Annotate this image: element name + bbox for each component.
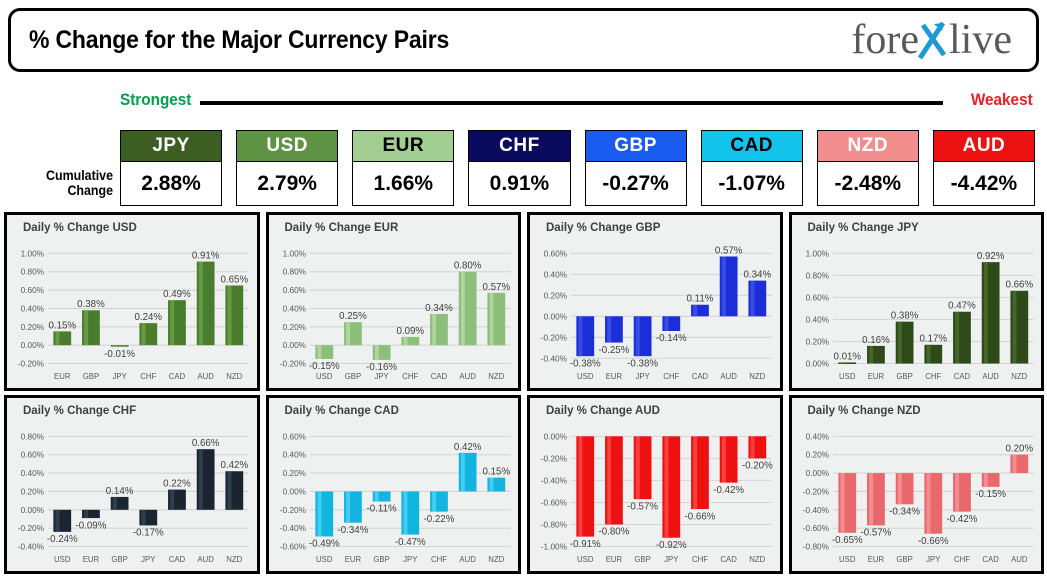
bar-value-label: -0.20% — [742, 460, 773, 471]
bar-value-label: -0.57% — [860, 527, 891, 538]
x-axis-tick: CHF — [692, 555, 708, 564]
strength-scale-line — [200, 101, 943, 105]
y-axis-tick: -1.00% — [541, 541, 568, 551]
bar-value-label: 0.17% — [919, 334, 947, 345]
cumulative-value-usd: 2.79% — [236, 162, 338, 206]
bar-chf — [139, 323, 157, 345]
x-axis-tick: EUR — [867, 372, 884, 381]
y-axis-tick: 0.20% — [805, 450, 829, 460]
bar-value-label: -0.11% — [366, 504, 396, 515]
x-axis-tick: USD — [839, 372, 856, 381]
cumulative-cell-jpy: JPY2.88% — [120, 130, 222, 206]
y-axis-tick: 0.20% — [21, 486, 45, 496]
x-axis-tick: USD — [577, 372, 594, 381]
bar-nzd — [487, 478, 505, 492]
x-axis-tick: CAD — [430, 372, 447, 381]
cumulative-change-row: JPY2.88%USD2.79%EUR1.66%CHF0.91%GBP-0.27… — [120, 130, 1035, 206]
bar-aud — [458, 272, 476, 345]
y-axis-tick: -0.40% — [279, 523, 306, 533]
bar-value-label: 0.14% — [106, 486, 134, 497]
bar-value-label: -0.66% — [917, 536, 948, 547]
cumulative-value-jpy: 2.88% — [120, 162, 222, 206]
bar-value-label: -0.09% — [76, 520, 107, 531]
x-axis-tick: CHF — [925, 372, 941, 381]
bar-value-label: 0.66% — [1005, 280, 1033, 291]
y-axis-tick: -0.40% — [802, 505, 829, 515]
y-axis-tick: 1.00% — [21, 248, 45, 258]
bar-value-label: -0.15% — [308, 361, 339, 372]
x-axis-tick: JPY — [926, 555, 941, 564]
bar-value-label: -0.22% — [423, 514, 454, 525]
bar-gbp — [344, 322, 362, 345]
cumulative-cell-eur: EUR1.66% — [352, 130, 454, 206]
x-axis-tick: EUR — [54, 372, 71, 381]
x-axis-tick: NZD — [749, 555, 765, 564]
x-axis-tick: CAD — [720, 555, 737, 564]
x-axis-tick: CAD — [953, 372, 970, 381]
bar-value-label: 0.16% — [862, 335, 890, 346]
bar-usd — [315, 345, 333, 359]
y-axis-tick: 0.40% — [282, 303, 306, 313]
currency-header-chf: CHF — [468, 130, 570, 162]
bar-value-label: -0.91% — [570, 539, 601, 550]
bar-value-label: 0.24% — [134, 312, 162, 323]
x-axis-tick: CHF — [402, 372, 418, 381]
y-axis-tick: 0.80% — [282, 267, 306, 277]
bar-value-label: -0.24% — [47, 534, 78, 545]
y-axis-tick: 0.80% — [21, 267, 45, 277]
currency-header-jpy: JPY — [120, 130, 222, 162]
bar-jpy — [924, 473, 942, 534]
y-axis-tick: -0.40% — [541, 475, 568, 485]
bar-value-label: -0.42% — [713, 485, 744, 496]
y-axis-tick: 0.40% — [544, 269, 568, 279]
cumulative-cell-chf: CHF0.91% — [468, 130, 570, 206]
x-axis-tick: AUD — [720, 372, 737, 381]
y-axis-tick: -0.60% — [279, 541, 306, 551]
x-axis-tick: GBP — [344, 372, 360, 381]
chart-plot-area: 0.60%0.40%0.20%0.00%-0.20%-0.40%-0.60%-0… — [269, 420, 517, 569]
y-axis-tick: -0.60% — [802, 523, 829, 533]
bar-eur — [82, 510, 100, 518]
bar-value-label: 0.09% — [396, 326, 424, 337]
cumulative-change-label: Cumulative Change — [16, 168, 113, 198]
bar-nzd — [487, 293, 505, 345]
bar-value-label: -0.01% — [104, 349, 135, 360]
bar-eur — [605, 436, 623, 524]
bar-value-label: 0.15% — [482, 466, 510, 477]
x-axis-tick: USD — [316, 372, 333, 381]
bar-nzd — [225, 471, 243, 510]
y-axis-tick: 0.60% — [282, 431, 306, 441]
x-axis-tick: EUR — [83, 555, 100, 564]
bar-value-label: 0.34% — [744, 269, 772, 280]
chart-plot-area: 0.40%0.20%0.00%-0.20%-0.40%-0.60%-0.80%-… — [792, 420, 1040, 569]
x-axis-tick: CHF — [430, 555, 446, 564]
bar-value-label: -0.25% — [599, 345, 630, 356]
cumulative-value-aud: -4.42% — [933, 162, 1035, 206]
x-axis-tick: USD — [316, 555, 333, 564]
chart-panel-cad: Daily % Change CAD0.60%0.40%0.20%0.00%-0… — [266, 395, 522, 574]
strongest-label: Strongest — [120, 90, 191, 110]
bar-value-label: -0.38% — [570, 358, 601, 369]
y-axis-tick: 0.00% — [21, 505, 45, 515]
chart-plot-area: 0.80%0.60%0.40%0.20%0.00%-0.20%-0.40%-0.… — [7, 420, 255, 569]
x-axis-tick: CAD — [692, 372, 709, 381]
bar-value-label: -0.57% — [627, 501, 658, 512]
x-axis-tick: GBP — [634, 555, 650, 564]
bar-aud — [197, 262, 215, 346]
chart-title: Daily % Change USD — [23, 222, 137, 234]
forex-change-dashboard: % Change for the Major Currency Pairs fo… — [0, 0, 1047, 578]
cumulative-value-chf: 0.91% — [468, 162, 570, 206]
x-axis-tick: JPY — [374, 372, 389, 381]
y-axis-tick: 0.00% — [544, 311, 568, 321]
y-axis-tick: 0.40% — [21, 468, 45, 478]
x-axis-tick: NZD — [1011, 372, 1027, 381]
currency-header-aud: AUD — [933, 130, 1035, 162]
x-axis-tick: GBP — [83, 372, 99, 381]
y-axis-tick: 0.80% — [805, 270, 829, 280]
x-axis-tick: CHF — [953, 555, 969, 564]
bar-jpy — [662, 436, 680, 537]
bar-aud — [981, 262, 999, 363]
chart-panel-chf: Daily % Change CHF0.80%0.60%0.40%0.20%0.… — [4, 395, 260, 574]
bar-usd — [576, 436, 594, 536]
y-axis-tick: 0.00% — [805, 358, 829, 368]
bar-jpy — [111, 345, 129, 347]
bar-gbp — [82, 310, 100, 345]
currency-header-usd: USD — [236, 130, 338, 162]
bar-cad — [691, 305, 709, 317]
bar-value-label: -0.38% — [627, 358, 658, 369]
y-axis-tick: -0.40% — [541, 353, 568, 363]
bar-chf — [691, 436, 709, 509]
cumulative-change-label-line2: Change — [16, 183, 113, 198]
bar-value-label: -0.65% — [831, 535, 862, 546]
x-axis-tick: GBP — [373, 555, 389, 564]
bar-value-label: -0.34% — [337, 525, 368, 536]
x-axis-tick: GBP — [896, 372, 912, 381]
x-axis-tick: NZD — [488, 555, 504, 564]
bar-gbp — [895, 322, 913, 364]
y-axis-tick: 0.20% — [544, 290, 568, 300]
logo-text-right: live — [949, 19, 1012, 61]
y-axis-tick: 0.40% — [282, 450, 306, 460]
y-axis-tick: -0.20% — [279, 505, 306, 515]
x-axis-tick: EUR — [867, 555, 884, 564]
bar-value-label: -0.14% — [656, 333, 687, 344]
cumulative-change-label-line1: Cumulative — [16, 168, 113, 183]
chart-panel-eur: Daily % Change EUR1.00%0.80%0.60%0.40%0.… — [266, 212, 522, 391]
x-axis-tick: AUD — [982, 372, 999, 381]
currency-header-cad: CAD — [701, 130, 803, 162]
chart-panel-nzd: Daily % Change NZD0.40%0.20%0.00%-0.20%-… — [789, 395, 1045, 574]
cumulative-value-eur: 1.66% — [352, 162, 454, 206]
bar-cad — [720, 436, 738, 482]
bar-aud — [720, 256, 738, 316]
x-axis-tick: AUD — [459, 372, 476, 381]
bar-nzd — [225, 285, 243, 345]
y-axis-tick: -0.20% — [279, 358, 306, 368]
forexlive-logo: fore live — [851, 19, 1018, 61]
x-axis-tick: JPY — [112, 372, 127, 381]
chart-title: Daily % Change AUD — [546, 405, 660, 417]
x-axis-tick: NZD — [749, 372, 765, 381]
chart-plot-area: 1.00%0.80%0.60%0.40%0.20%0.00%0.01%USD0.… — [792, 237, 1040, 386]
bar-value-label: 0.49% — [163, 289, 191, 300]
bar-value-label: 0.42% — [453, 442, 481, 453]
x-axis-tick: AUD — [197, 372, 214, 381]
cumulative-cell-usd: USD2.79% — [236, 130, 338, 206]
cumulative-cell-aud: AUD-4.42% — [933, 130, 1035, 206]
x-axis-tick: NZD — [488, 372, 504, 381]
bar-value-label: -0.17% — [133, 527, 164, 538]
x-axis-tick: CHF — [140, 372, 156, 381]
y-axis-tick: 0.20% — [282, 468, 306, 478]
bar-value-label: 0.57% — [715, 245, 743, 256]
bar-value-label: -0.15% — [975, 489, 1006, 500]
x-axis-tick: USD — [577, 555, 594, 564]
bar-value-label: 0.91% — [192, 250, 220, 261]
strength-scale: Strongest Weakest — [0, 88, 1047, 116]
currency-header-nzd: NZD — [817, 130, 919, 162]
bar-value-label: 0.11% — [687, 294, 714, 305]
logo-x-arrow-icon — [919, 19, 949, 61]
chart-plot-area: 1.00%0.80%0.60%0.40%0.20%0.00%-0.20%0.15… — [7, 237, 255, 386]
bar-jpy — [634, 316, 652, 356]
bar-value-label: -0.34% — [889, 506, 920, 517]
y-axis-tick: -0.60% — [541, 497, 568, 507]
bar-aud — [458, 453, 476, 492]
bar-cad — [953, 312, 971, 364]
bar-aud — [1010, 455, 1028, 473]
bar-value-label: 0.25% — [339, 311, 367, 322]
x-axis-tick: AUD — [197, 555, 214, 564]
x-axis-tick: AUD — [1011, 555, 1028, 564]
bar-eur — [605, 316, 623, 342]
y-axis-tick: 0.60% — [805, 292, 829, 302]
x-axis-tick: NZD — [226, 555, 242, 564]
bar-value-label: -0.80% — [599, 527, 630, 538]
bar-value-label: 0.57% — [482, 282, 510, 293]
x-axis-tick: JPY — [635, 372, 650, 381]
chart-panel-gbp: Daily % Change GBP0.60%0.40%0.20%0.00%-0… — [527, 212, 783, 391]
bar-usd — [315, 491, 333, 536]
bar-value-label: 0.42% — [221, 460, 249, 471]
x-axis-tick: AUD — [459, 555, 476, 564]
y-axis-tick: 0.40% — [21, 303, 45, 313]
chart-panel-aud: Daily % Change AUD0.00%-0.20%-0.40%-0.60… — [527, 395, 783, 574]
chart-plot-area: 0.00%-0.20%-0.40%-0.60%-0.80%-1.00%-0.91… — [530, 420, 778, 569]
bar-usd — [576, 316, 594, 356]
x-axis-tick: GBP — [111, 555, 127, 564]
x-axis-tick: EUR — [606, 555, 623, 564]
chart-plot-area: 1.00%0.80%0.60%0.40%0.20%0.00%-0.20%-0.1… — [269, 237, 517, 386]
cumulative-value-nzd: -2.48% — [817, 162, 919, 206]
bar-jpy — [139, 510, 157, 526]
bar-cad — [168, 490, 186, 510]
bar-value-label: -0.66% — [685, 511, 716, 522]
chart-title: Daily % Change CAD — [285, 405, 399, 417]
cumulative-value-gbp: -0.27% — [585, 162, 687, 206]
y-axis-tick: 0.80% — [21, 431, 45, 441]
y-axis-tick: -0.80% — [802, 541, 829, 551]
x-axis-tick: JPY — [664, 555, 679, 564]
chart-title: Daily % Change GBP — [546, 222, 660, 234]
x-axis-tick: USD — [54, 555, 71, 564]
y-axis-tick: -0.20% — [18, 358, 45, 368]
bar-value-label: -0.49% — [308, 538, 339, 549]
y-axis-tick: 0.00% — [21, 340, 45, 350]
y-axis-tick: -0.80% — [541, 519, 568, 529]
y-axis-tick: 0.00% — [544, 431, 568, 441]
bar-chf — [401, 337, 419, 345]
y-axis-tick: 0.60% — [21, 285, 45, 295]
y-axis-tick: 0.00% — [805, 468, 829, 478]
bar-cad — [981, 473, 999, 487]
bar-eur — [53, 331, 71, 345]
bar-eur — [344, 491, 362, 522]
bar-value-label: -0.42% — [946, 514, 977, 525]
y-axis-tick: 1.00% — [282, 248, 306, 258]
bar-jpy — [372, 345, 390, 360]
page-title: % Change for the Major Currency Pairs — [29, 26, 449, 55]
bar-value-label: 0.20% — [1005, 443, 1033, 454]
cumulative-value-cad: -1.07% — [701, 162, 803, 206]
bar-value-label: 0.38% — [890, 310, 918, 321]
x-axis-tick: CAD — [169, 555, 186, 564]
chart-grid: Daily % Change USD1.00%0.80%0.60%0.40%0.… — [4, 212, 1044, 574]
bar-chf — [430, 491, 448, 511]
weakest-label: Weakest — [971, 90, 1033, 110]
y-axis-tick: 0.00% — [282, 486, 306, 496]
x-axis-tick: EUR — [344, 555, 361, 564]
x-axis-tick: GBP — [896, 555, 912, 564]
y-axis-tick: 0.40% — [805, 431, 829, 441]
x-axis-tick: CHF — [663, 372, 679, 381]
bar-gbp — [895, 473, 913, 504]
y-axis-tick: -0.20% — [802, 486, 829, 496]
y-axis-tick: -0.20% — [541, 332, 568, 342]
bar-gbp — [634, 436, 652, 499]
bar-jpy — [401, 491, 419, 534]
cumulative-cell-gbp: GBP-0.27% — [585, 130, 687, 206]
bar-gbp — [372, 491, 390, 501]
y-axis-tick: 0.60% — [21, 450, 45, 460]
bar-value-label: 0.66% — [192, 438, 220, 449]
bar-value-label: 0.92% — [976, 251, 1004, 262]
bar-eur — [867, 346, 885, 364]
y-axis-tick: 0.00% — [282, 340, 306, 350]
chart-plot-area: 0.60%0.40%0.20%0.00%-0.20%-0.40%-0.38%US… — [530, 237, 778, 386]
x-axis-tick: JPY — [403, 555, 418, 564]
bar-value-label: 0.65% — [221, 274, 249, 285]
bar-eur — [867, 473, 885, 525]
y-axis-tick: 1.00% — [805, 248, 829, 258]
bar-value-label: -0.47% — [394, 537, 425, 548]
bar-cad — [168, 300, 186, 345]
y-axis-tick: 0.20% — [21, 322, 45, 332]
bar-chf — [953, 473, 971, 512]
y-axis-tick: -0.40% — [18, 541, 45, 551]
title-bar: % Change for the Major Currency Pairs fo… — [8, 8, 1039, 72]
chart-title: Daily % Change JPY — [808, 222, 919, 234]
bar-nzd — [748, 281, 766, 317]
x-axis-tick: CAD — [982, 555, 999, 564]
x-axis-tick: JPY — [141, 555, 156, 564]
chart-panel-usd: Daily % Change USD1.00%0.80%0.60%0.40%0.… — [4, 212, 260, 391]
bar-value-label: 0.22% — [163, 478, 191, 489]
chart-title: Daily % Change EUR — [285, 222, 399, 234]
bar-nzd — [1010, 291, 1028, 364]
currency-header-gbp: GBP — [585, 130, 687, 162]
cumulative-cell-nzd: NZD-2.48% — [817, 130, 919, 206]
y-axis-tick: 0.60% — [544, 248, 568, 258]
bar-value-label: 0.01% — [833, 351, 861, 362]
bar-value-label: 0.38% — [77, 299, 105, 310]
bar-usd — [53, 510, 71, 532]
chart-title: Daily % Change NZD — [808, 405, 921, 417]
chart-panel-jpy: Daily % Change JPY1.00%0.80%0.60%0.40%0.… — [789, 212, 1045, 391]
bar-chf — [924, 345, 942, 364]
cumulative-cell-cad: CAD-1.07% — [701, 130, 803, 206]
bar-gbp — [111, 497, 129, 510]
currency-header-eur: EUR — [352, 130, 454, 162]
bar-chf — [662, 316, 680, 331]
y-axis-tick: 0.20% — [805, 336, 829, 346]
x-axis-tick: EUR — [606, 372, 623, 381]
y-axis-tick: 0.40% — [805, 314, 829, 324]
bar-usd — [838, 362, 856, 364]
bar-value-label: 0.15% — [48, 320, 76, 331]
bar-value-label: -0.92% — [656, 540, 687, 551]
logo-text-left: fore — [851, 19, 919, 61]
bar-value-label: 0.34% — [425, 303, 453, 314]
y-axis-tick: 0.20% — [282, 322, 306, 332]
bar-value-label: 0.47% — [948, 301, 976, 312]
x-axis-tick: CAD — [169, 372, 186, 381]
y-axis-tick: -0.20% — [541, 453, 568, 463]
bar-cad — [430, 314, 448, 345]
bar-aud — [197, 449, 215, 510]
y-axis-tick: -0.20% — [18, 523, 45, 533]
y-axis-tick: 0.60% — [282, 285, 306, 295]
x-axis-tick: USD — [839, 555, 856, 564]
bar-nzd — [748, 436, 766, 458]
bar-usd — [838, 473, 856, 533]
chart-title: Daily % Change CHF — [23, 405, 136, 417]
x-axis-tick: NZD — [226, 372, 242, 381]
bar-value-label: 0.80% — [453, 260, 481, 271]
